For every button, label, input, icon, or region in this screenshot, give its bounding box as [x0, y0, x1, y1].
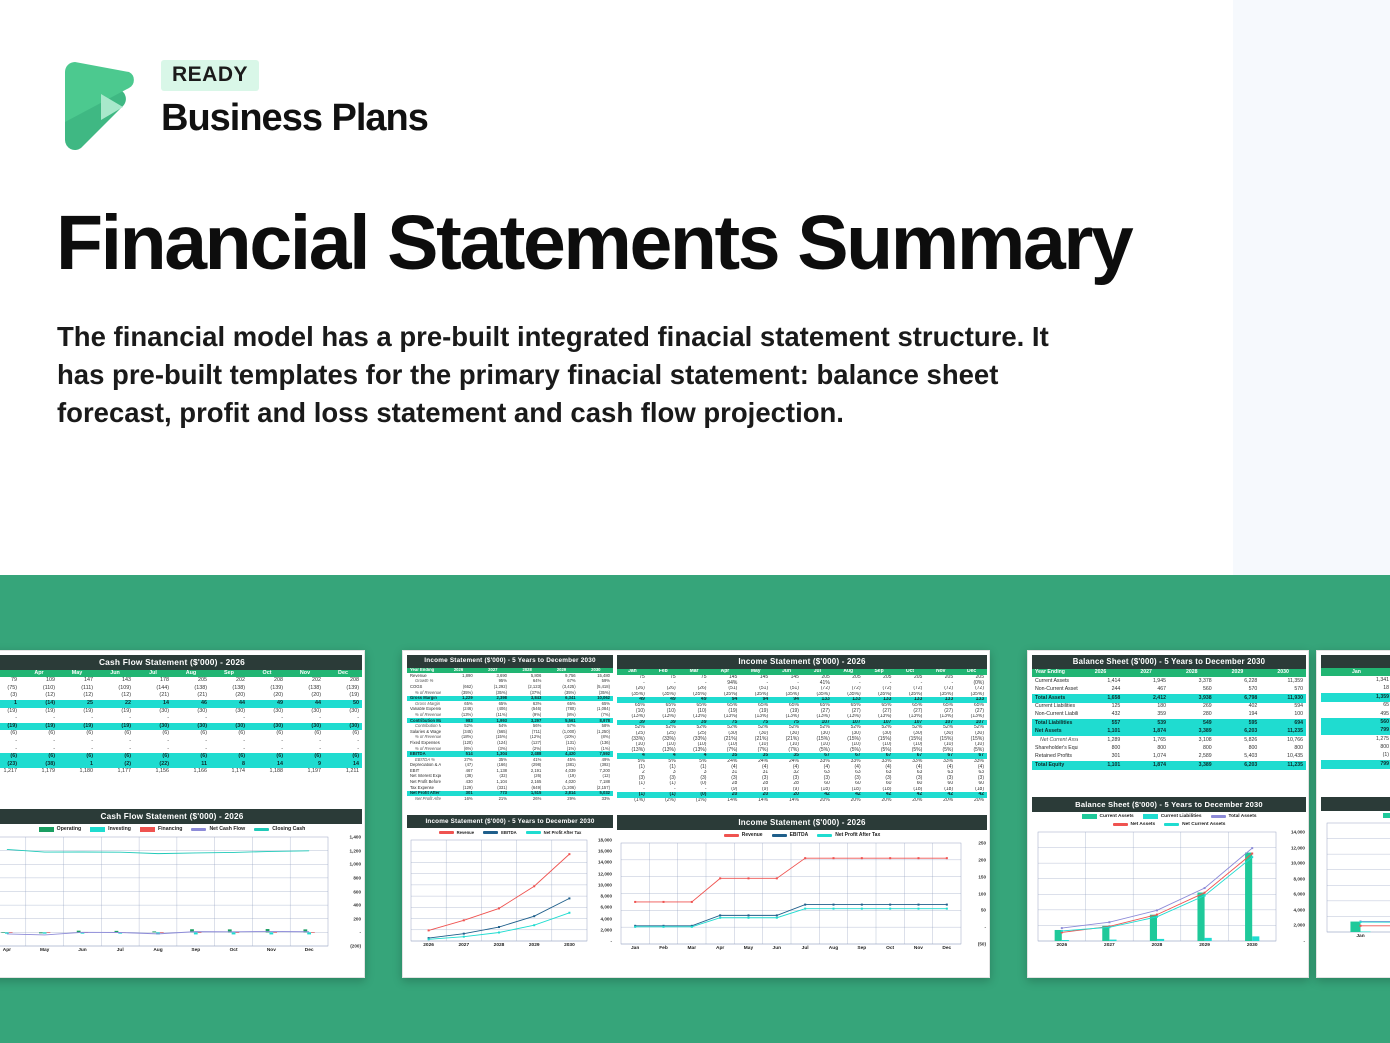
table-row: (3)(12)(12)(12)(21)(21)(20)(20)(20)(19) [0, 692, 362, 700]
legend-label: Closing Cash [272, 826, 305, 832]
x-tick-label: 2030 [1228, 943, 1276, 948]
y-tick-label: 16,000 [598, 849, 612, 854]
income-monthly-chart-title: Income Statement ($'000) - 2026 [617, 815, 987, 830]
table-header-row: JanFeb [1321, 668, 1390, 676]
legend-item: Net Cash Flow [191, 826, 245, 832]
y-tick-label: 400 [353, 903, 361, 908]
legend-item: Net Current Assets [1164, 822, 1225, 827]
page-title: Financial Statements Summary [56, 199, 1131, 288]
legend-label: Net Profit After Tax [544, 830, 582, 835]
income-5yr-chart-legend: Revenue EBITDA Net Profit After Tax [407, 828, 613, 836]
legend-swatch [140, 827, 155, 832]
table-row: (19)(19)(19)(19)(30)(30)(30)(30)(30)(30) [0, 708, 362, 716]
brand-wordmark: READY Business Plans [161, 60, 428, 140]
table-row: ---------- [0, 738, 362, 746]
x-axis: AprMayJunJulAugSepOctNovDec [0, 948, 362, 953]
legend-label: Net Profit After Tax [835, 832, 880, 838]
table-row: Net Assets1,1011,8743,3896,20311,235 [1032, 728, 1306, 736]
y-tick-label: 1,400 [350, 835, 362, 840]
cashflow-chart-plot: 1,4001,2001,000800600400200-(200)AprMayJ… [0, 833, 362, 953]
legend-item: EBITDA [483, 830, 517, 835]
legend-swatch [724, 834, 739, 837]
x-tick-label: Apr [706, 946, 734, 951]
play-triangle-logo-icon [57, 58, 142, 150]
income-5yr-table: Income Statement ($'000) - 5 Years to De… [407, 655, 613, 802]
legend-item: Current Assets [1082, 814, 1134, 819]
y-axis: 25020015010050-(50) [957, 839, 987, 951]
table-row: Non-Current Liabilities432359280194100 [1032, 711, 1306, 719]
table-row: 1836 [1321, 685, 1390, 693]
y-tick-label: 200 [978, 857, 986, 862]
cashflow-table: Cash Flow Statement ($'000) - 2026AprMay… [0, 655, 362, 776]
legend-swatch [1164, 823, 1179, 826]
table-row: Net Current Assets1,2891,7653,1085,82610… [1032, 736, 1306, 744]
x-axis: JanFebMarAprMayJunJulAugSepOctNovDec [617, 946, 987, 951]
y-tick-label: 1,200 [350, 848, 362, 853]
x-tick-label: 2029 [517, 943, 552, 948]
y-tick-label: 250 [978, 841, 986, 846]
balance-monthly-screenshot-card[interactable]: JanFeb1,3411,32318361,3591,3596572495489… [1316, 650, 1390, 978]
y-tick-label: 50 [981, 908, 986, 913]
x-tick-label: Oct [876, 946, 904, 951]
legend-label: Current Assets [1100, 814, 1134, 819]
x-tick-label: Apr [0, 948, 26, 953]
table-row: Shareholder's Equity800800800800800 [1032, 744, 1306, 752]
x-tick-label: Mar [678, 946, 706, 951]
x-tick-label: Jun [763, 946, 791, 951]
legend-item: Operating [39, 826, 82, 832]
legend-label: Operating [57, 826, 82, 832]
y-tick-label: 14,000 [1291, 830, 1305, 835]
legend-item: Closing Cash [254, 826, 305, 832]
table-header-row: AprMayJunJulAugSepOctNovDec [0, 670, 362, 678]
legend-swatch [439, 831, 454, 834]
x-tick-label: May [734, 946, 762, 951]
table-row: 800800 [1321, 744, 1390, 752]
table-row: 1,2751,251 [1321, 735, 1390, 743]
y-tick-label: 2,000 [601, 927, 613, 932]
y-tick-label: 8,000 [1294, 876, 1306, 881]
legend-swatch [1211, 815, 1226, 818]
legend-swatch [1082, 814, 1097, 819]
x-tick-label: Jul [791, 946, 819, 951]
legend-item: Revenue [439, 830, 474, 835]
income-screenshot-card[interactable]: Income Statement ($'000) - 5 Years to De… [402, 650, 990, 978]
legend-label: EBITDA [501, 830, 517, 835]
y-tick-label: 600 [353, 889, 361, 894]
x-tick-label: Oct [215, 948, 253, 953]
balance-monthly-chart-title [1321, 797, 1390, 811]
table-row: 560561 [1321, 718, 1390, 726]
legend-item: EBITDA [772, 832, 809, 838]
ready-badge: READY [161, 60, 259, 91]
y-tick-label: 10,000 [598, 882, 612, 887]
y-tick-label: 12,000 [1291, 845, 1305, 850]
y-axis: 1,4001,2001,000800600400200-(200) [332, 833, 362, 953]
balance-sheet-screenshot-card[interactable]: Balance Sheet ($'000) - 5 Years to Decem… [1027, 650, 1309, 978]
legend-swatch [191, 828, 206, 831]
page-subtitle: The financial model has a pre-built inte… [57, 318, 1092, 433]
y-tick-label: - [359, 930, 361, 935]
y-tick-label: - [984, 925, 986, 930]
x-tick-label: Sep [848, 946, 876, 951]
balance-chart-legend-row1: Current Assets Current Liabilities Total… [1032, 812, 1306, 820]
y-axis: 18,00016,00014,00012,00010,0008,0006,000… [583, 836, 613, 948]
legend-item: Net Profit After Tax [817, 832, 880, 838]
legend-label: Net Current Assets [1182, 822, 1225, 827]
legend-item: Net Profit After Tax [526, 830, 582, 835]
x-tick-label: 2028 [481, 943, 516, 948]
legend-swatch [526, 831, 541, 834]
table-row: 799798 [1321, 760, 1390, 768]
legend-label: Total Assets [1229, 814, 1257, 819]
y-tick-label: (50) [978, 942, 986, 947]
y-tick-label: - [1303, 939, 1305, 944]
table-row: 1,3591,359 [1321, 693, 1390, 701]
y-axis: 14,00012,00010,0008,0006,0004,0002,000- [1276, 828, 1306, 948]
balance-chart-title: Balance Sheet ($'000) - 5 Years to Decem… [1032, 797, 1306, 812]
y-tick-label: - [610, 939, 612, 944]
y-tick-label: 8,000 [601, 894, 613, 899]
cashflow-screenshot-card[interactable]: Cash Flow Statement ($'000) - 2026AprMay… [0, 650, 365, 978]
table-row: Total Assets1,6582,4123,9386,79811,930 [1032, 694, 1306, 702]
table-title: Income Statement ($'000) - 2026 [617, 655, 987, 669]
x-axis: JanFeb [1321, 934, 1390, 939]
brand-logo: READY Business Plans [57, 58, 457, 153]
x-tick-label: Dec [290, 948, 328, 953]
table-row: Total Liabilities557539549595694 [1032, 719, 1306, 727]
x-tick-label: 2028 [1133, 943, 1181, 948]
x-tick-label: 2029 [1181, 943, 1229, 948]
x-tick-label: Nov [904, 946, 932, 951]
legend-label: EBITDA [790, 832, 809, 838]
income-5yr-chart-title: Income Statement ($'000) - 5 Years to De… [407, 815, 613, 828]
table-title: Cash Flow Statement ($'000) - 2026 [0, 655, 362, 670]
y-tick-label: 4,000 [1294, 907, 1306, 912]
y-tick-label: 2,000 [1294, 923, 1306, 928]
cashflow-chart-title: Cash Flow Statement ($'000) - 2026 [0, 809, 362, 824]
legend-swatch [483, 831, 498, 834]
y-tick-label: 18,000 [598, 838, 612, 843]
legend-label: Net Assets [1131, 822, 1156, 827]
table-row: ---------- [0, 715, 362, 723]
y-tick-label: 6,000 [601, 905, 613, 910]
y-tick-label: 100 [978, 891, 986, 896]
legend-item: Net Assets [1113, 822, 1156, 827]
table-header-row: Year Ending20262027202820292030 [1032, 669, 1306, 677]
x-tick-label: 2026 [1038, 943, 1086, 948]
x-tick-label: 2026 [411, 943, 446, 948]
x-tick-label: Aug [819, 946, 847, 951]
legend-label: Net Cash Flow [209, 826, 245, 832]
legend-label: Investing [108, 826, 131, 832]
y-tick-label: 1,000 [350, 862, 362, 867]
legend-swatch [1143, 814, 1158, 819]
table-row: Current Assets1,4141,9453,3786,22811,359 [1032, 677, 1306, 685]
x-axis: 20262027202820292030 [1032, 943, 1306, 948]
legend-swatch [817, 834, 832, 837]
y-tick-label: 10,000 [1291, 861, 1305, 866]
table-row: 79109147143178205202208202208 [0, 677, 362, 685]
table-row: Non-Current Assets244467560570570 [1032, 686, 1306, 694]
income-monthly-chart-plot: 25020015010050-(50)JanFebMarAprMayJunJul… [617, 839, 987, 951]
table-row: ---------- [0, 746, 362, 754]
legend-label: Revenue [742, 832, 763, 838]
table-title: Balance Sheet ($'000) - 5 Years to Decem… [1032, 655, 1306, 669]
table-row: Total Equity1,1011,8743,3896,20311,235 [1032, 761, 1306, 769]
income-monthly-chart-legend: Revenue EBITDA Net Profit After Tax [617, 830, 987, 839]
table-row: 1,2171,1791,1801,1771,1561,1661,1741,188… [0, 768, 362, 776]
legend-swatch [1383, 813, 1390, 818]
balance-monthly-chart-legend [1321, 811, 1390, 819]
x-tick-label: Jan [621, 946, 649, 951]
balance-monthly-chart-plot: JanFeb [1321, 819, 1390, 939]
table-row: (6)(6)(6)(6)(6)(6)(6)(6)(6)(6) [0, 730, 362, 738]
legend-item: Current Liabilities [1143, 814, 1202, 819]
table-row: Net Profit After Tax %16%21%26%29%33% [407, 796, 613, 802]
legend-item: Financing [140, 826, 183, 832]
y-tick-label: (200) [350, 944, 361, 949]
legend-item: Investing [90, 826, 131, 832]
y-tick-label: 6,000 [1294, 892, 1306, 897]
x-tick-label: Nov [252, 948, 290, 953]
balance-5yr-table: Balance Sheet ($'000) - 5 Years to Decem… [1032, 655, 1306, 770]
table-row: 495489 [1321, 710, 1390, 718]
cashflow-chart-legend: Operating Investing Financing Net Cash F… [0, 824, 362, 833]
x-tick-label: Jul [101, 948, 139, 953]
balance-monthly-table: JanFeb1,3411,32318361,3591,3596572495489… [1321, 655, 1390, 769]
legend-item [1383, 813, 1390, 818]
y-tick-label: 150 [978, 874, 986, 879]
table-row: (6)(6)(6)(6)(6)(6)(6)(6)(6)(6) [0, 753, 362, 761]
legend-swatch [90, 827, 105, 832]
y-tick-label: 800 [353, 875, 361, 880]
y-tick-label: 12,000 [598, 871, 612, 876]
x-tick-label: Sep [177, 948, 215, 953]
legend-swatch [772, 834, 787, 837]
balance-chart-plot: 14,00012,00010,0008,0006,0004,0002,000-2… [1032, 828, 1306, 948]
x-tick-label: 2030 [552, 943, 587, 948]
table-row: (75)(110)(111)(109)(144)(138)(138)(139)(… [0, 685, 362, 693]
x-tick-label: Jan [1327, 934, 1390, 939]
income-monthly-table: Income Statement ($'000) - 2026JanFebMar… [617, 655, 987, 803]
x-tick-label: 2027 [1086, 943, 1134, 948]
legend-label: Revenue [457, 830, 474, 835]
right-tint-panel [1233, 0, 1390, 575]
table-row: Retained Profits3011,0742,5895,40310,435 [1032, 753, 1306, 761]
x-tick-label: Aug [139, 948, 177, 953]
table-row: 1(14)2522144644494450 [0, 700, 362, 708]
table-row: (1)(2) [1321, 752, 1390, 760]
table-row: 799798 [1321, 727, 1390, 735]
brand-name: Business Plans [161, 97, 428, 140]
y-tick-label: 4,000 [601, 916, 613, 921]
x-tick-label: May [26, 948, 64, 953]
x-tick-label: Feb [649, 946, 677, 951]
y-tick-label: 200 [353, 916, 361, 921]
table-row: Current Liabilities125180269402594 [1032, 703, 1306, 711]
x-tick-label: 2027 [446, 943, 481, 948]
x-tick-label: Jun [64, 948, 102, 953]
legend-item: Revenue [724, 832, 763, 838]
table-row: 1,3411,323 [1321, 676, 1390, 684]
legend-label: Financing [158, 826, 183, 832]
table-row: (19)(19)(19)(19)(30)(30)(30)(30)(30)(30) [0, 723, 362, 731]
legend-item: Total Assets [1211, 814, 1257, 819]
balance-chart-legend-row2: Net Assets Net Current Assets [1032, 820, 1306, 828]
hero-section: READY Business Plans Financial Statement… [0, 0, 1390, 575]
legend-swatch [39, 827, 54, 832]
table-row: 6572 [1321, 702, 1390, 710]
legend-swatch [254, 828, 269, 831]
table-title: Income Statement ($'000) - 5 Years to De… [407, 655, 613, 668]
table-row: (23)(38)1(2)(22)11814914 [0, 761, 362, 769]
legend-swatch [1113, 823, 1128, 826]
table-row: (1%)(2%)(1%)14%14%14%20%20%20%20%20%20% [617, 798, 987, 804]
legend-label: Current Liabilities [1161, 814, 1202, 819]
income-5yr-chart-plot: 18,00016,00014,00012,00010,0008,0006,000… [407, 836, 613, 948]
y-tick-label: 14,000 [598, 860, 612, 865]
